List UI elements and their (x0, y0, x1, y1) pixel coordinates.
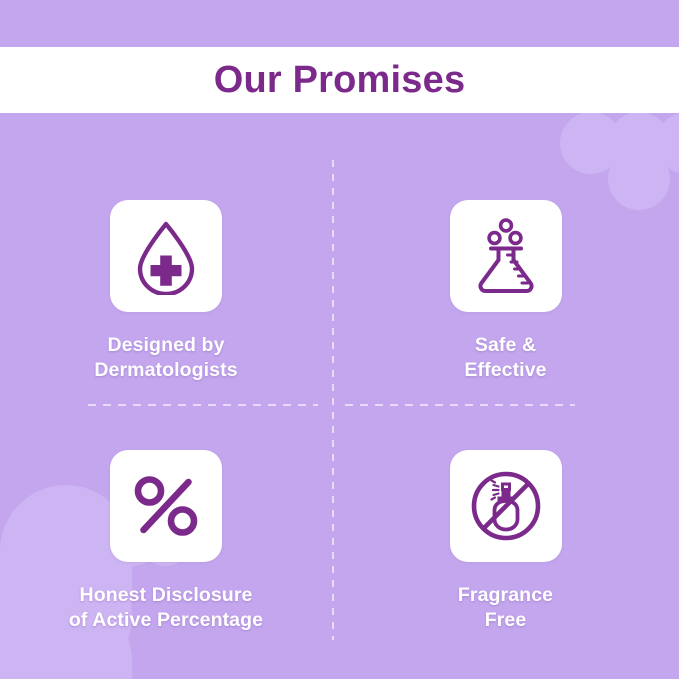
droplet-plus-icon (127, 217, 205, 295)
promise-label: Designed by Dermatologists (94, 333, 237, 383)
no-fragrance-icon (466, 466, 546, 546)
promise-label: Honest Disclosure of Active Percentage (69, 583, 263, 633)
icon-tile (110, 450, 222, 562)
promise-label: Fragrance Free (458, 583, 553, 633)
header-band: Our Promises (0, 47, 679, 113)
flask-bubbles-icon (467, 217, 545, 295)
icon-tile (110, 200, 222, 312)
promise-item-designed-by-dermatologists: Designed by Dermatologists (0, 160, 332, 410)
promise-grid: Designed by Dermatologists (0, 160, 679, 660)
promise-label: Safe & Effective (464, 333, 546, 383)
icon-tile (450, 200, 562, 312)
our-promises-banner: Our Promises Designed by Dermatologists (0, 0, 679, 679)
percent-icon (127, 467, 205, 545)
promise-item-fragrance-free: Fragrance Free (332, 410, 679, 660)
page-title: Our Promises (214, 61, 466, 99)
icon-tile (450, 450, 562, 562)
promise-item-honest-disclosure: Honest Disclosure of Active Percentage (0, 410, 332, 660)
promise-item-safe-and-effective: Safe & Effective (332, 160, 679, 410)
